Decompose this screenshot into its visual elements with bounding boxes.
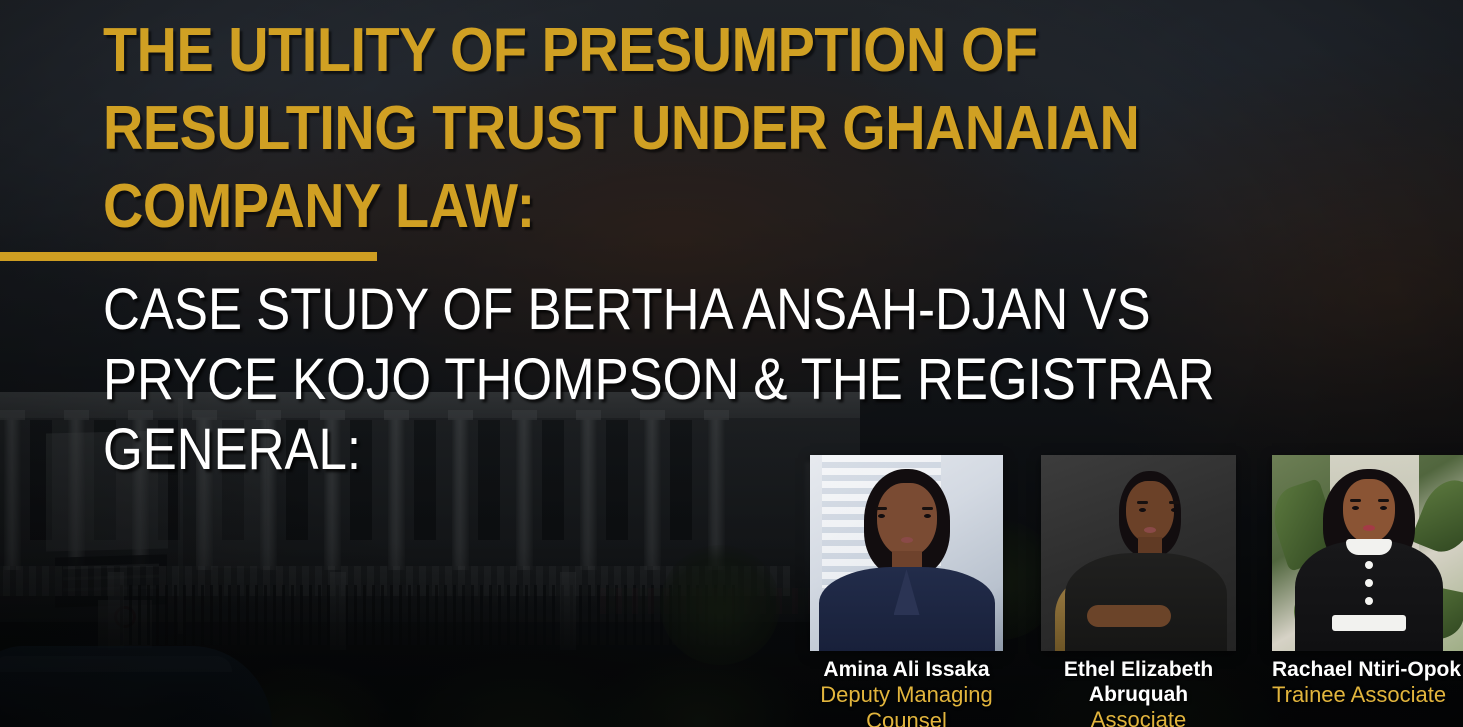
slide-content: THE UTILITY OF PRESUMPTION OF RESULTING … — [0, 0, 1463, 727]
speaker-card: Ethel Elizabeth Abruquah Associate — [1041, 455, 1236, 727]
slide-subtitle: CASE STUDY OF BERTHA ANSAH-DJAN VS PRYCE… — [103, 275, 1383, 485]
speaker-name: Amina Ali Issaka — [810, 657, 1003, 682]
speaker-photo — [810, 455, 1003, 651]
speaker-card: Rachael Ntiri-Opok Trainee Associate — [1272, 455, 1463, 708]
speaker-role: Trainee Associate — [1272, 682, 1463, 708]
title-line-2: RESULTING TRUST UNDER GHANAIAN — [103, 90, 1210, 168]
speaker-list: Amina Ali Issaka Deputy Managing Counsel — [810, 455, 1463, 727]
speaker-card: Amina Ali Issaka Deputy Managing Counsel — [810, 455, 1003, 727]
title-line-3: COMPANY LAW: — [103, 168, 1210, 246]
slide-title: THE UTILITY OF PRESUMPTION OF RESULTING … — [103, 12, 1333, 246]
subtitle-line-1: CASE STUDY OF BERTHA ANSAH-DJAN VS — [103, 275, 1229, 345]
speaker-photo — [1041, 455, 1236, 651]
speaker-role: Associate — [1041, 707, 1236, 727]
speaker-name: Rachael Ntiri-Opok — [1272, 657, 1463, 682]
speaker-role: Deputy Managing Counsel — [810, 682, 1003, 727]
presentation-slide: THE UTILITY OF PRESUMPTION OF RESULTING … — [0, 0, 1463, 727]
gold-divider-rule — [0, 252, 377, 261]
speaker-photo — [1272, 455, 1463, 651]
speaker-name: Ethel Elizabeth Abruquah — [1041, 657, 1236, 707]
title-line-1: THE UTILITY OF PRESUMPTION OF — [103, 12, 1210, 90]
subtitle-line-2: PRYCE KOJO THOMPSON & THE REGISTRAR — [103, 345, 1229, 415]
